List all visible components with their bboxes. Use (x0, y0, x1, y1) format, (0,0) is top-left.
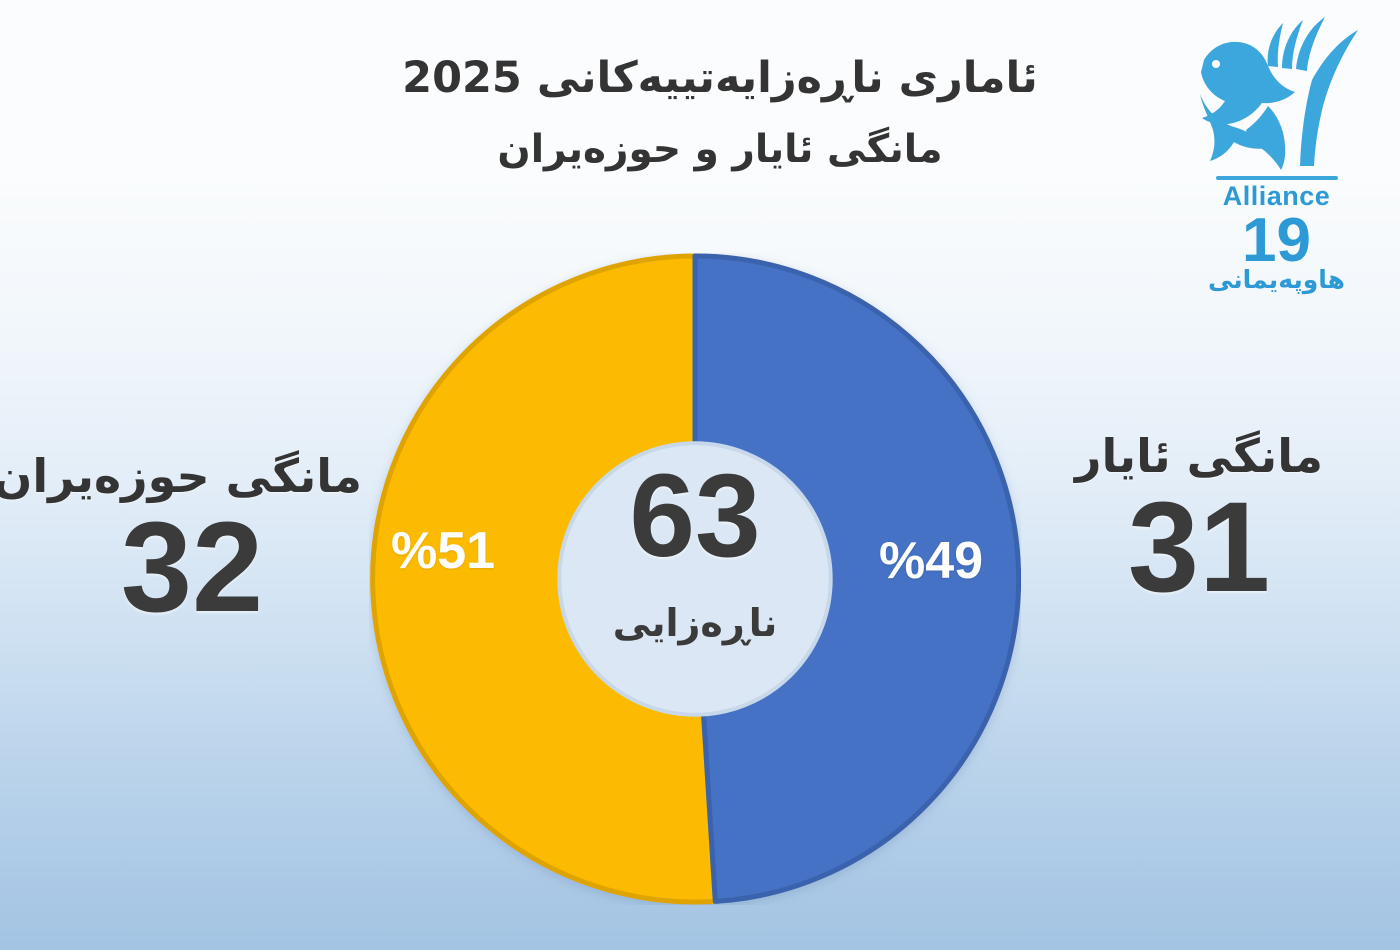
callout-may-label: مانگی ئایار (1034, 432, 1364, 480)
callout-may: مانگی ئایار 31 (1034, 432, 1364, 612)
logo-number: 19 (1169, 211, 1384, 271)
alliance-19-logo[interactable]: Alliance 19 هاوپەیمانی (1169, 14, 1384, 282)
callout-june-label: مانگی حوزەیران (22, 452, 362, 500)
dove-hand-icon (1182, 14, 1372, 174)
slice-blue-percent: %49 (879, 535, 983, 587)
donut-center-label: ناڕەزایی (369, 604, 1021, 642)
callout-may-number: 31 (1034, 484, 1364, 612)
slice-yellow-percent: %51 (391, 525, 495, 577)
logo-kurdish-name: هاوپەیمانی (1169, 267, 1384, 292)
callout-june-number: 32 (22, 504, 362, 632)
callout-june: مانگی حوزەیران 32 (22, 452, 362, 632)
infographic-canvas: ئاماری ناڕەزایەتییەکانی 2025 مانگی ئایار… (0, 0, 1400, 950)
donut-chart: 63 ناڕەزایی %51 %49 (369, 253, 1021, 905)
logo-divider (1216, 176, 1338, 180)
